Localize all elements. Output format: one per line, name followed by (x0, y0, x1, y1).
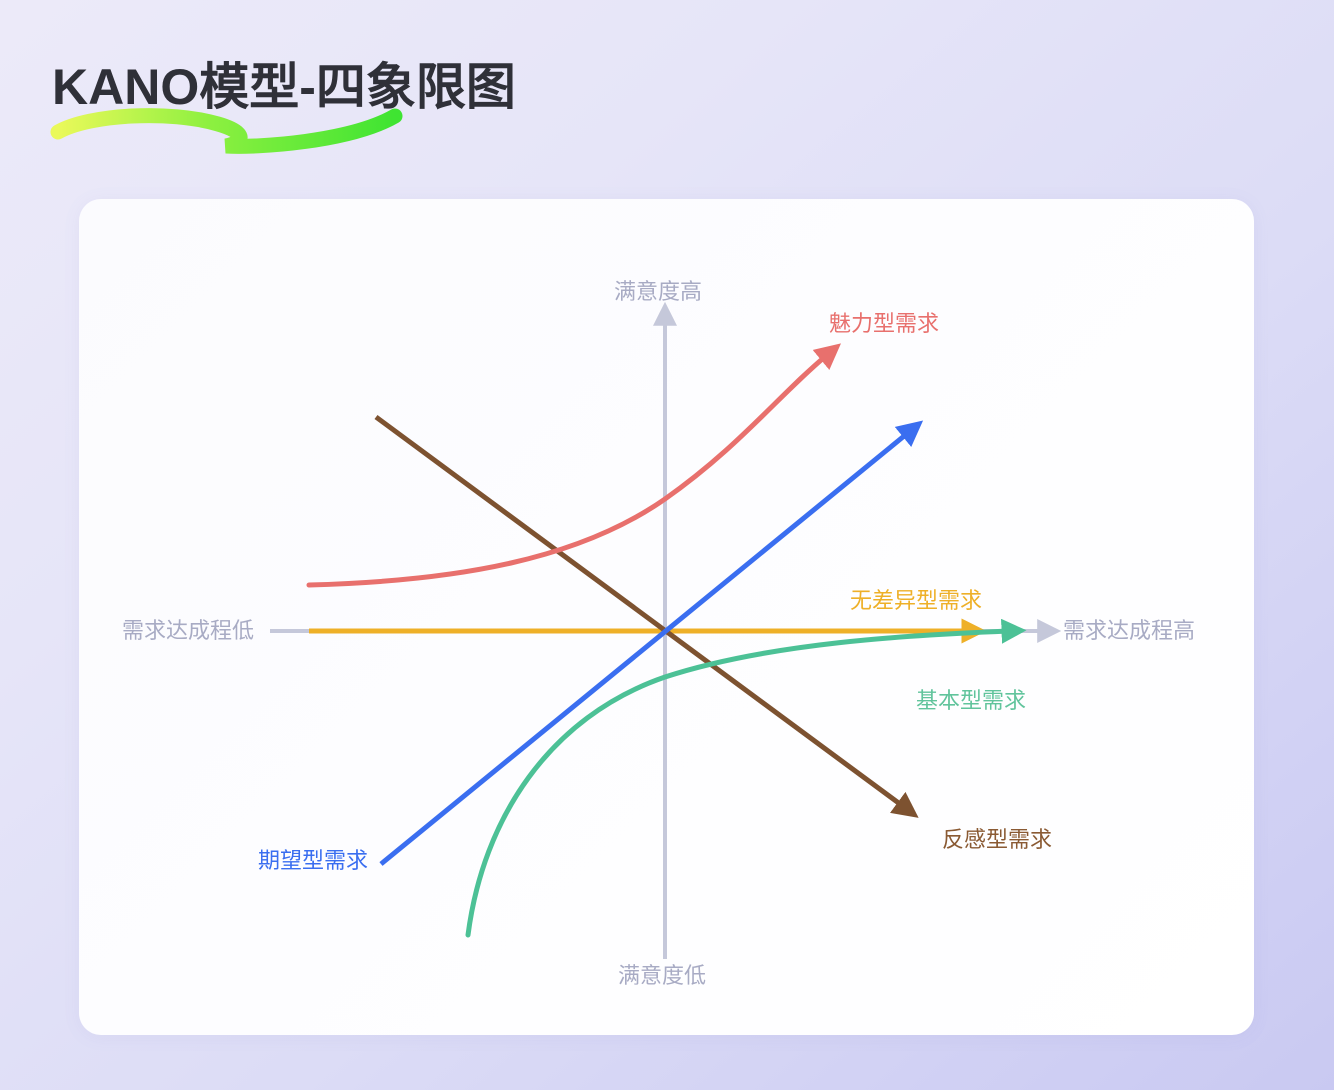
curve-label-one-dimensional: 期望型需求 (258, 850, 368, 872)
axis-label-satisfaction-high: 满意度高 (614, 281, 702, 303)
chart-card (79, 199, 1254, 1035)
axis-label-fulfillment-high: 需求达成程高 (1063, 620, 1195, 642)
curve-reverse (376, 417, 904, 807)
curve-one-dimensional (381, 432, 909, 864)
curve-must-be (468, 631, 1009, 935)
curve-label-must-be: 基本型需求 (916, 690, 1026, 712)
axis-label-fulfillment-low: 需求达成程低 (122, 620, 254, 642)
curve-label-reverse: 反感型需求 (942, 829, 1052, 851)
kano-quadrant-chart (79, 199, 1254, 1035)
curve-attractive (309, 355, 827, 585)
curve-label-indifferent: 无差异型需求 (850, 590, 982, 612)
curve-label-attractive: 魅力型需求 (829, 313, 939, 335)
page-header: KANO模型-四象限图 (52, 56, 672, 148)
page-title: KANO模型-四象限图 (52, 56, 672, 118)
axis-label-satisfaction-low: 满意度低 (618, 965, 706, 987)
